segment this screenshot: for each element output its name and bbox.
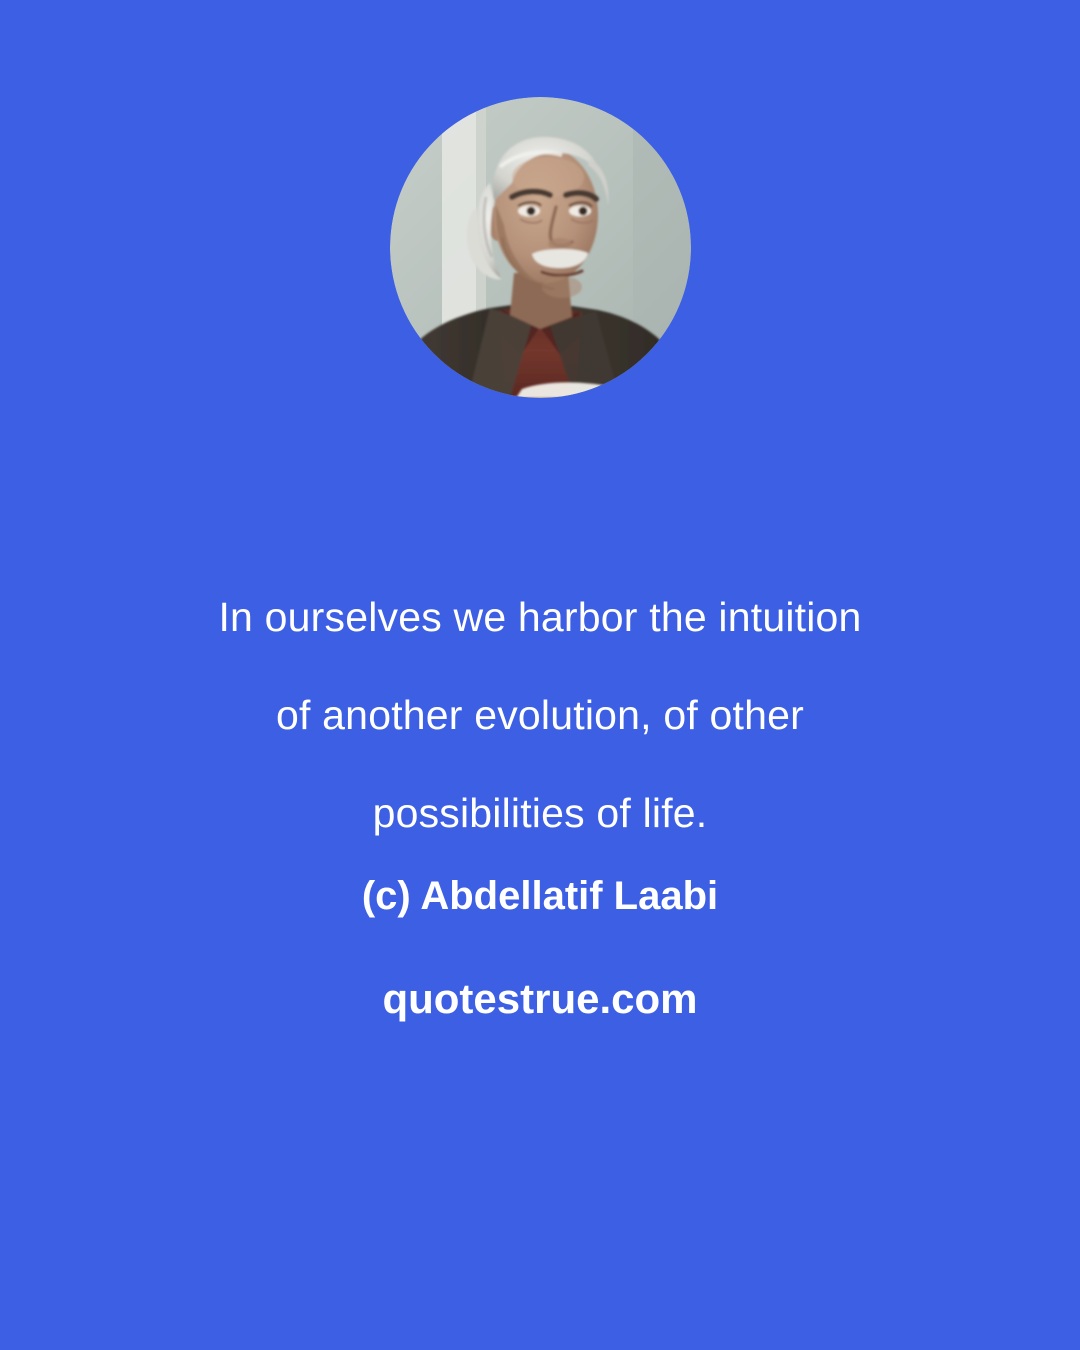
photo-wall-stripe — [442, 97, 476, 327]
quote-line-2: of another evolution, of other — [0, 666, 1080, 764]
quote-line-1: In ourselves we harbor the intuition — [0, 568, 1080, 666]
quote-line-3: possibilities of life. — [0, 764, 1080, 862]
subject-pupil-left — [527, 207, 536, 216]
quote-text: In ourselves we harbor the intuition of … — [0, 568, 1080, 862]
subject-nose-tip — [548, 238, 572, 250]
quote-source-website[interactable]: quotestrue.com — [0, 969, 1080, 1029]
subject-pupil-right — [579, 207, 588, 216]
attribution-block: (c) Abdellatif Laabi quotestrue.com — [0, 866, 1080, 1029]
author-portrait-photo — [390, 97, 691, 398]
quote-card: In ourselves we harbor the intuition of … — [0, 0, 1080, 1350]
quote-author: (c) Abdellatif Laabi — [0, 866, 1080, 926]
author-portrait — [390, 97, 691, 398]
